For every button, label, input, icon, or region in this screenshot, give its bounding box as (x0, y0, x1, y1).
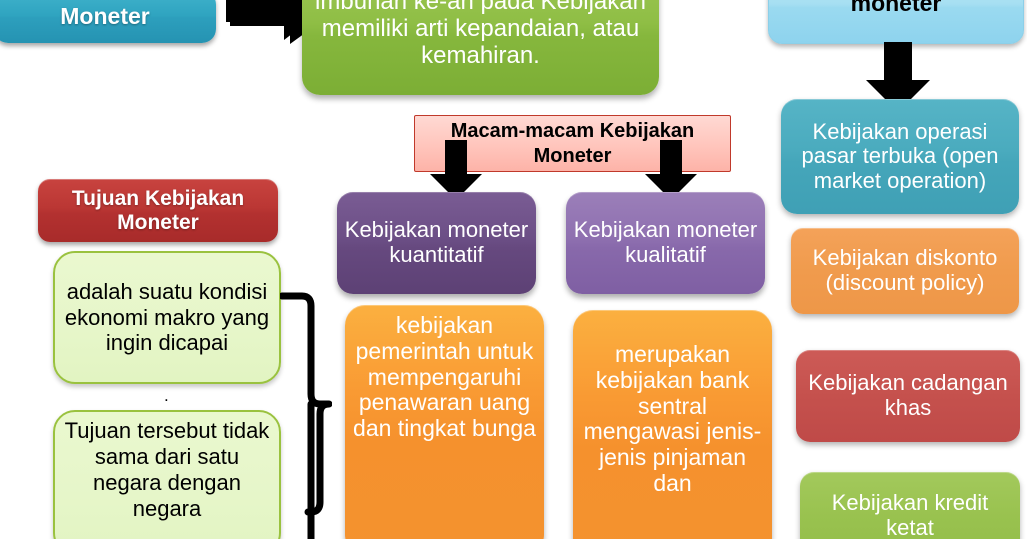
node-kualitatif-head[interactable]: Kebijakan moneter kualitatif (566, 192, 765, 294)
node-moneter-right-head[interactable]: moneter (768, 0, 1024, 44)
node-right-open-market-label: Kebijakan operasi pasar terbuka (open ma… (781, 120, 1019, 194)
node-right-diskonto[interactable]: Kebijakan diskonto (discount policy) (791, 228, 1019, 314)
node-kuantitatif-body-label: kebijakan pemerintah untuk mempengaruhi … (345, 313, 544, 442)
node-kualitatif-body-label: merupakan kebijakan bank sentral mengawa… (573, 342, 772, 497)
node-tujuan-head[interactable]: Tujuan Kebijakan Moneter (38, 179, 278, 242)
node-moneter-right-head-label: moneter (769, 0, 1023, 17)
node-right-kredit-ketat-label: Kebijakan kredit ketat (800, 491, 1020, 539)
node-kualitatif-head-label: Kebijakan moneter kualitatif (566, 218, 765, 267)
node-tujuan-head-label: Tujuan Kebijakan Moneter (38, 187, 278, 234)
node-tujuan-body-1-label: adalah suatu kondisi ekonomi makro yang … (55, 279, 279, 357)
node-tujuan-body-1[interactable]: adalah suatu kondisi ekonomi makro yang … (53, 251, 281, 384)
node-right-cadangan-khas-label: Kebijakan cadangan khas (796, 371, 1020, 420)
node-kualitatif-body[interactable]: merupakan kebijakan bank sentral mengawa… (573, 310, 772, 539)
node-right-kredit-ketat[interactable]: Kebijakan kredit ketat (800, 472, 1020, 539)
node-definition-green-label: imbuhan ke-an pada Kebijakan memiliki ar… (302, 0, 659, 70)
right-curly-brace-icon (280, 288, 332, 539)
separator-dot: . (164, 394, 168, 402)
node-right-open-market[interactable]: Kebijakan operasi pasar terbuka (open ma… (781, 99, 1019, 214)
node-definition-green[interactable]: imbuhan ke-an pada Kebijakan memiliki ar… (302, 0, 659, 95)
node-tujuan-body-2-label: Tujuan tersebut tidak sama dari satu neg… (55, 418, 279, 522)
node-kuantitatif-head[interactable]: Kebijakan moneter kuantitatif (337, 192, 536, 294)
node-moneter-head[interactable]: Moneter (0, 0, 216, 43)
node-kuantitatif-body[interactable]: kebijakan pemerintah untuk mempengaruhi … (345, 305, 544, 539)
node-right-diskonto-label: Kebijakan diskonto (discount policy) (791, 246, 1019, 295)
node-tujuan-body-2[interactable]: Tujuan tersebut tidak sama dari satu neg… (53, 410, 281, 539)
node-kuantitatif-head-label: Kebijakan moneter kuantitatif (337, 218, 536, 267)
node-moneter-head-label: Moneter (0, 4, 216, 30)
node-right-cadangan-khas[interactable]: Kebijakan cadangan khas (796, 350, 1020, 442)
diagram-canvas: Moneter imbuhan ke-an pada Kebijakan mem… (0, 0, 1027, 539)
